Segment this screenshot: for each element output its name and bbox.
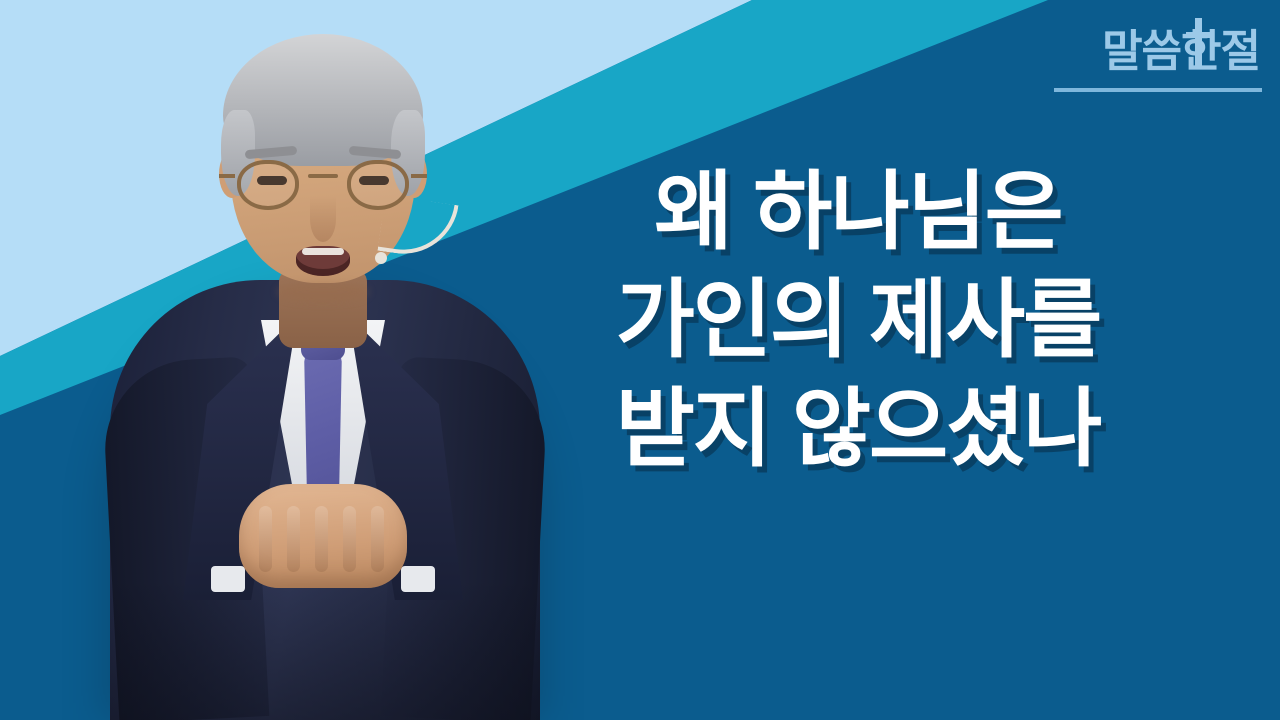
finger [315,506,328,572]
headset-microphone-icon [377,195,458,261]
headline-line-2: 가인의 제사를 [498,266,1218,374]
finger [259,506,272,572]
headline-line-1: 왜 하나님은 [498,158,1218,266]
glasses-temple-left [219,174,235,178]
video-thumbnail: 왜 하나님은 가인의 제사를 받지 않으셨나 말씀한절 [0,0,1280,720]
logo-underline [1054,88,1262,92]
headline-text: 왜 하나님은 가인의 제사를 받지 않으셨나 [498,158,1218,483]
finger [287,506,300,572]
headline-line-3: 받지 않으셨나 [498,375,1218,483]
glasses-temple-right [411,174,427,178]
glasses-bridge [308,174,338,178]
speaker-clasped-hands [239,484,407,588]
speaker-nose [310,196,336,242]
finger [371,506,384,572]
cross-icon [1195,18,1202,68]
speaker-cuff-right [401,566,435,592]
channel-logo: 말씀한절 [1002,30,1262,92]
speaker-portrait [88,0,558,720]
speaker-cuff-left [211,566,245,592]
speaker-mouth [296,246,350,276]
glasses-lens-left [237,160,299,210]
microphone-tip [375,252,387,264]
speaker-chin-shadow [277,282,369,302]
finger [343,506,356,572]
channel-logo-text: 말씀한절 [1102,30,1262,74]
